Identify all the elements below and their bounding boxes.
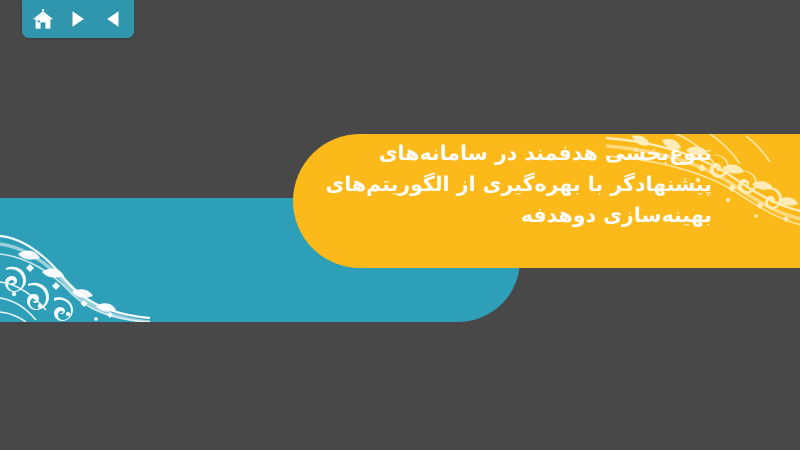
title-line-3: بهینه‌سازی دوهدفه bbox=[380, 200, 712, 231]
slide-canvas: تنوع‌بخشی هدفمند در سامانه‌های پیشنهادگر… bbox=[0, 0, 800, 450]
home-button[interactable] bbox=[30, 6, 56, 32]
slide-title: تنوع‌بخشی هدفمند در سامانه‌های پیشنهادگر… bbox=[380, 138, 800, 231]
home-icon bbox=[32, 9, 54, 30]
triangle-right-icon bbox=[70, 10, 86, 28]
title-line-2: پیشنهادگر با بهره‌گیری از الگوریتم‌های bbox=[380, 169, 712, 200]
forward-button[interactable] bbox=[65, 6, 91, 32]
back-button[interactable] bbox=[100, 6, 126, 32]
navigation-bar bbox=[22, 0, 134, 38]
triangle-left-icon bbox=[105, 10, 121, 28]
title-line-1: تنوع‌بخشی هدفمند در سامانه‌های bbox=[380, 138, 712, 169]
arabesque-ornament-bottom-left bbox=[0, 198, 150, 322]
